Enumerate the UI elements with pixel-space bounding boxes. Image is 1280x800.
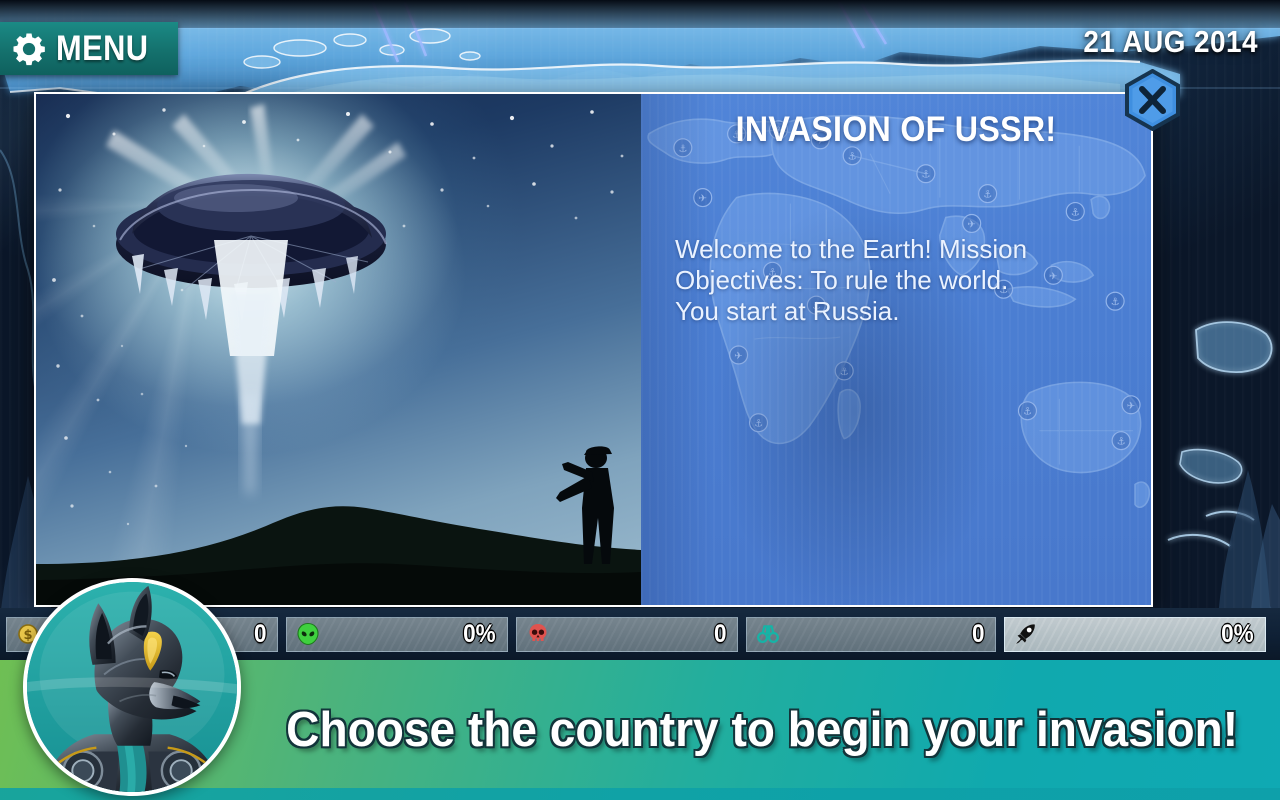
binoculars-icon (756, 622, 780, 646)
red-skull-icon (526, 622, 550, 646)
stat-casualties-value: 0 (701, 620, 726, 649)
commander-avatar[interactable] (23, 578, 241, 796)
dialog-title: INVASION OF USSR! (661, 110, 1130, 150)
menu-button[interactable]: MENU (0, 22, 178, 75)
mission-briefing-dialog: ⚓⚓⚓ ⚓⚓⚓ ⚓⚓⚓ ⚓⚓⚓ ⚓⚓⚓ ✈✈✈ ✈✈✈ (34, 92, 1153, 607)
stat-money-value: 0 (241, 620, 266, 649)
ufo-scene (36, 94, 641, 605)
game-date: 21 AUG 2014 (1083, 24, 1258, 60)
rocket-icon (1014, 622, 1038, 646)
ufo-illustration-panel (36, 94, 641, 605)
menu-button-label: MENU (56, 29, 148, 69)
stat-intel[interactable]: 0 (746, 617, 996, 652)
stat-rocket-value: 0% (1208, 620, 1253, 649)
stat-rocket-progress[interactable]: 0% (1004, 617, 1266, 652)
instruction-text: Choose the country to begin your invasio… (286, 702, 1232, 758)
gear-icon (12, 32, 46, 66)
stat-alien-value: 0% (450, 620, 495, 649)
stat-alien-control[interactable]: 0% (286, 617, 508, 652)
stat-intel-value: 0 (959, 620, 984, 649)
mission-text-panel: ⚓⚓⚓ ⚓⚓⚓ ⚓⚓⚓ ⚓⚓⚓ ⚓⚓⚓ ✈✈✈ ✈✈✈ (641, 94, 1151, 605)
close-dialog-button[interactable] (1124, 69, 1181, 131)
anubis-alien-portrait (27, 582, 237, 792)
alien-head-icon (296, 622, 320, 646)
panel-shading-overlay (641, 94, 1151, 605)
close-hex-icon (1124, 69, 1181, 131)
game-screen: MENU 21 AUG 2014 (0, 0, 1280, 800)
stat-casualties[interactable]: 0 (516, 617, 738, 652)
dialog-body-text: Welcome to the Earth! Mission Objectives… (675, 234, 1123, 328)
